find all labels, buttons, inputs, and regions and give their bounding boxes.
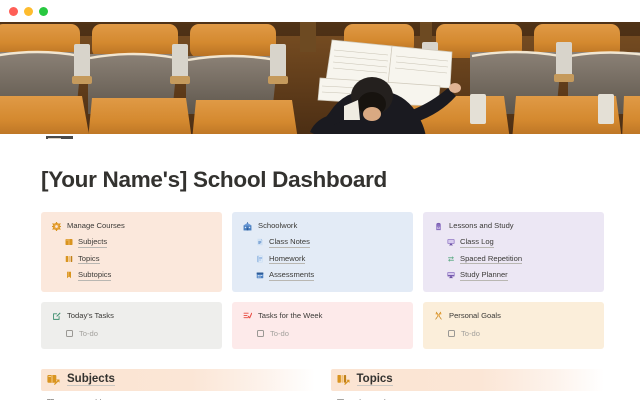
card-lessons-and-study[interactable]: Lessons and Study Class Log (423, 212, 604, 292)
window-titlebar (0, 0, 640, 22)
card-manage-courses[interactable]: Manage Courses Subjects (41, 212, 222, 292)
database-title: Subjects (67, 373, 115, 386)
note-page-icon (256, 238, 264, 246)
todo-label: To-do (270, 329, 289, 338)
books-icon (65, 255, 73, 263)
cover-menu-item-bar (48, 138, 61, 139)
link-subtopics[interactable]: Subtopics (52, 270, 211, 281)
cover-menu-item-1[interactable] (46, 136, 73, 139)
page-cover-image[interactable] (0, 22, 640, 139)
link-topics[interactable]: Topics (52, 254, 211, 265)
todo-checkbox[interactable] (448, 330, 455, 337)
calendar-icon (256, 271, 264, 279)
page-body: [Your Name's] School Dashboard (0, 167, 640, 400)
link-label: Subtopics (78, 270, 111, 281)
link-label: Class Log (460, 237, 494, 248)
database-sections: Subjects Cu (41, 369, 604, 400)
bookmark-icon (65, 271, 73, 279)
app-window: [Your Name's] School Dashboard (0, 0, 640, 400)
open-book-link-icon (47, 373, 60, 386)
link-label: Class Notes (269, 237, 310, 248)
card-heading-label: Schoolwork (258, 221, 297, 231)
monitor-icon (447, 238, 455, 246)
page-title: [Your Name's] School Dashboard (41, 167, 604, 193)
link-label: Assessments (269, 270, 314, 281)
card-header: Lessons and Study (434, 221, 593, 231)
books-link-icon (337, 373, 350, 386)
checklist-icon (243, 311, 252, 320)
repeat-arrows-icon (447, 255, 455, 263)
card-header: Today's Tasks (52, 311, 211, 321)
auditorium-seats-illustration (0, 22, 640, 139)
card-header: Tasks for the Week (243, 311, 402, 321)
gear-icon (52, 222, 61, 231)
card-personal-goals[interactable]: Personal Goals To-do (423, 302, 604, 349)
todo-item[interactable]: To-do (243, 329, 402, 338)
database-subjects: Subjects Cu (41, 369, 315, 400)
todo-item[interactable]: To-do (434, 329, 593, 338)
todo-checkbox[interactable] (66, 330, 73, 337)
card-heading-label: Lessons and Study (449, 221, 514, 231)
card-schoolwork[interactable]: Schoolwork Class Notes (232, 212, 413, 292)
maximize-button[interactable] (39, 7, 48, 16)
open-book-icon (65, 238, 73, 246)
todo-item[interactable]: To-do (52, 329, 211, 338)
school-building-icon (243, 222, 252, 231)
close-button[interactable] (9, 7, 18, 16)
link-assessments[interactable]: Assessments (243, 270, 402, 281)
link-label: Homework (269, 254, 305, 265)
desktop-icon (447, 271, 455, 279)
link-label: Topics (78, 254, 100, 265)
database-title: Topics (357, 373, 393, 386)
link-cards-grid: Manage Courses Subjects (41, 212, 604, 292)
database-title-bar[interactable]: Subjects (41, 369, 315, 391)
link-label: Study Planner (460, 270, 508, 281)
notebook-icon (256, 255, 264, 263)
database-topics: Topics Active (331, 369, 605, 400)
todo-label: To-do (79, 329, 98, 338)
link-spaced-repetition[interactable]: Spaced Repetition (434, 254, 593, 265)
task-cards-grid: Today's Tasks To-do (41, 302, 604, 349)
card-header: Personal Goals (434, 311, 593, 321)
card-heading-label: Manage Courses (67, 221, 125, 231)
crossed-flags-icon (434, 311, 443, 320)
link-class-notes[interactable]: Class Notes (243, 237, 402, 248)
card-heading-label: Personal Goals (449, 311, 501, 321)
minimize-button[interactable] (24, 7, 33, 16)
todo-checkbox[interactable] (257, 330, 264, 337)
pencil-square-icon (52, 311, 61, 320)
link-homework[interactable]: Homework (243, 254, 402, 265)
todo-label: To-do (461, 329, 480, 338)
database-title-bar[interactable]: Topics (331, 369, 605, 391)
link-class-log[interactable]: Class Log (434, 237, 593, 248)
card-todays-tasks[interactable]: Today's Tasks To-do (41, 302, 222, 349)
link-subjects[interactable]: Subjects (52, 237, 211, 248)
link-label: Spaced Repetition (460, 254, 522, 265)
link-study-planner[interactable]: Study Planner (434, 270, 593, 281)
card-heading-label: Today's Tasks (67, 311, 114, 321)
cover-options-menu[interactable] (46, 136, 73, 139)
card-header: Schoolwork (243, 221, 402, 231)
card-tasks-for-the-week[interactable]: Tasks for the Week To-do (232, 302, 413, 349)
link-label: Subjects (78, 237, 107, 248)
card-heading-label: Tasks for the Week (258, 311, 322, 321)
card-header: Manage Courses (52, 221, 211, 231)
backpack-icon (434, 222, 443, 231)
